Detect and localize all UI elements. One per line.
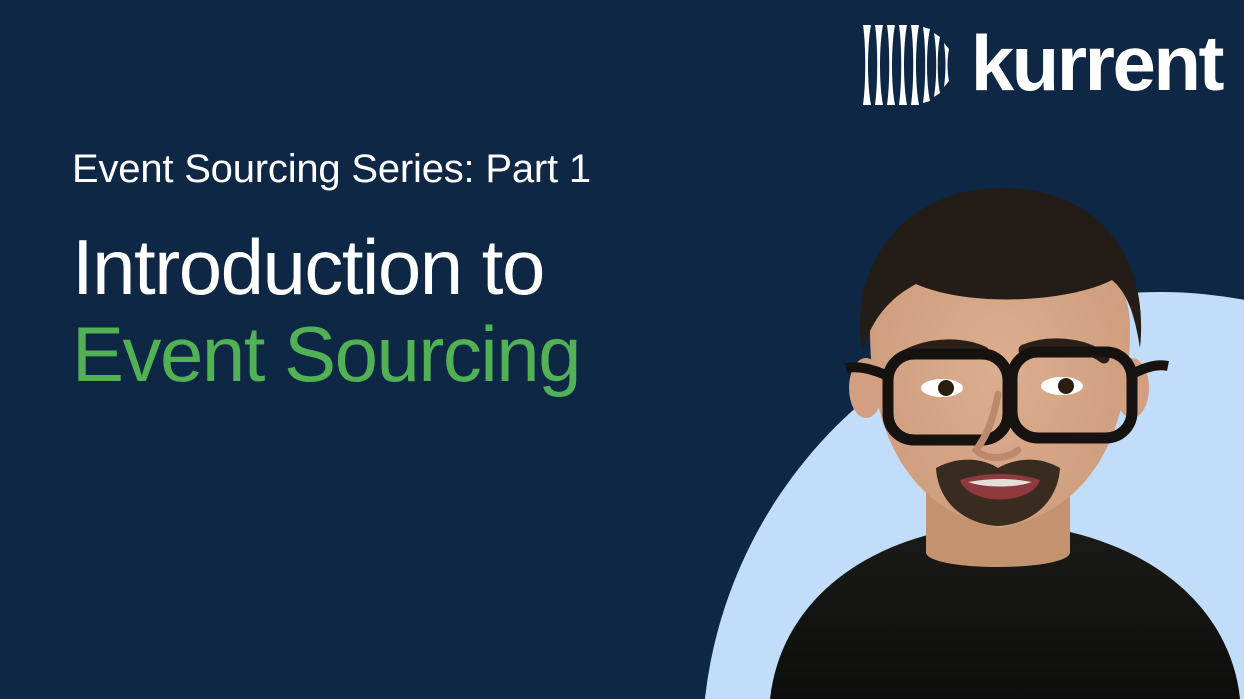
title-line-1: Introduction to bbox=[72, 225, 591, 309]
presenter-pupil-right bbox=[1058, 378, 1074, 394]
brand-logo: kurrent bbox=[861, 22, 1222, 108]
title-block: Event Sourcing Series: Part 1 Introducti… bbox=[72, 143, 591, 399]
video-title-slide: kurrent Event Sourcing Series: Part 1 In… bbox=[0, 0, 1244, 699]
series-eyebrow: Event Sourcing Series: Part 1 bbox=[72, 143, 591, 195]
title-line-2: Event Sourcing bbox=[72, 309, 591, 399]
presenter-layers bbox=[770, 188, 1240, 699]
kurrent-wave-mark bbox=[861, 23, 957, 107]
brand-wordmark: kurrent bbox=[971, 24, 1222, 102]
presenter-pupil-left bbox=[938, 380, 954, 396]
presenter-portrait bbox=[740, 180, 1244, 699]
